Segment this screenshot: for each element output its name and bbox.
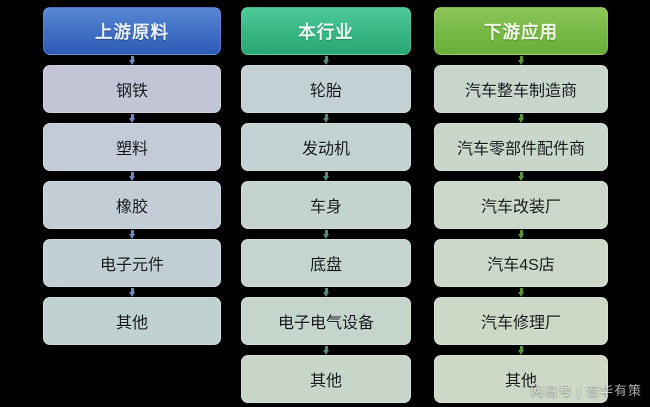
arrow-down-icon [518,230,525,239]
arrow-down-icon [518,56,525,65]
connector-downstream-4 [434,287,608,297]
column-upstream: 上游原料钢铁塑料橡胶电子元件其他 [43,7,221,345]
connector-upstream-0 [43,55,221,65]
connector-current_industry-5 [241,345,411,355]
arrow-down-icon [518,172,525,181]
connector-upstream-1 [43,113,221,123]
connector-downstream-5 [434,345,608,355]
column-header-downstream[interactable]: 下游应用 [434,7,608,55]
node-box[interactable]: 汽车修理厂 [434,297,608,345]
arrow-down-icon [129,288,136,297]
arrow-down-icon [129,230,136,239]
connector-downstream-2 [434,171,608,181]
arrow-down-icon [323,114,330,123]
connector-current_industry-2 [241,171,411,181]
node-box[interactable]: 轮胎 [241,65,411,113]
node-box[interactable]: 汽车改装厂 [434,181,608,229]
node-box[interactable]: 橡胶 [43,181,221,229]
node-box[interactable]: 电子元件 [43,239,221,287]
node-box[interactable]: 车身 [241,181,411,229]
arrow-down-icon [323,56,330,65]
connector-upstream-3 [43,229,221,239]
column-header-upstream[interactable]: 上游原料 [43,7,221,55]
column-current_industry: 本行业轮胎发动机车身底盘电子电气设备其他 [241,7,411,403]
connector-upstream-2 [43,171,221,181]
node-box[interactable]: 其他 [241,355,411,403]
column-downstream: 下游应用汽车整车制造商汽车零部件配件商汽车改装厂汽车4S店汽车修理厂其他 [434,7,608,403]
connector-current_industry-1 [241,113,411,123]
arrow-down-icon [323,346,330,355]
arrow-down-icon [518,288,525,297]
node-box[interactable]: 汽车4S店 [434,239,608,287]
industry-chain-diagram: 上游原料钢铁塑料橡胶电子元件其他本行业轮胎发动机车身底盘电子电气设备其他下游应用… [0,0,650,407]
arrow-down-icon [518,346,525,355]
node-box[interactable]: 塑料 [43,123,221,171]
connector-downstream-3 [434,229,608,239]
node-box[interactable]: 底盘 [241,239,411,287]
connector-current_industry-0 [241,55,411,65]
arrow-down-icon [129,114,136,123]
arrow-down-icon [129,56,136,65]
node-box[interactable]: 其他 [434,355,608,403]
node-box[interactable]: 汽车零部件配件商 [434,123,608,171]
connector-current_industry-3 [241,229,411,239]
arrow-down-icon [323,230,330,239]
arrow-down-icon [129,172,136,181]
connector-downstream-0 [434,55,608,65]
connector-upstream-4 [43,287,221,297]
connector-downstream-1 [434,113,608,123]
node-box[interactable]: 其他 [43,297,221,345]
node-box[interactable]: 电子电气设备 [241,297,411,345]
arrow-down-icon [323,172,330,181]
arrow-down-icon [323,288,330,297]
arrow-down-icon [518,114,525,123]
node-box[interactable]: 钢铁 [43,65,221,113]
connector-current_industry-4 [241,287,411,297]
node-box[interactable]: 发动机 [241,123,411,171]
node-box[interactable]: 汽车整车制造商 [434,65,608,113]
column-header-current_industry[interactable]: 本行业 [241,7,411,55]
